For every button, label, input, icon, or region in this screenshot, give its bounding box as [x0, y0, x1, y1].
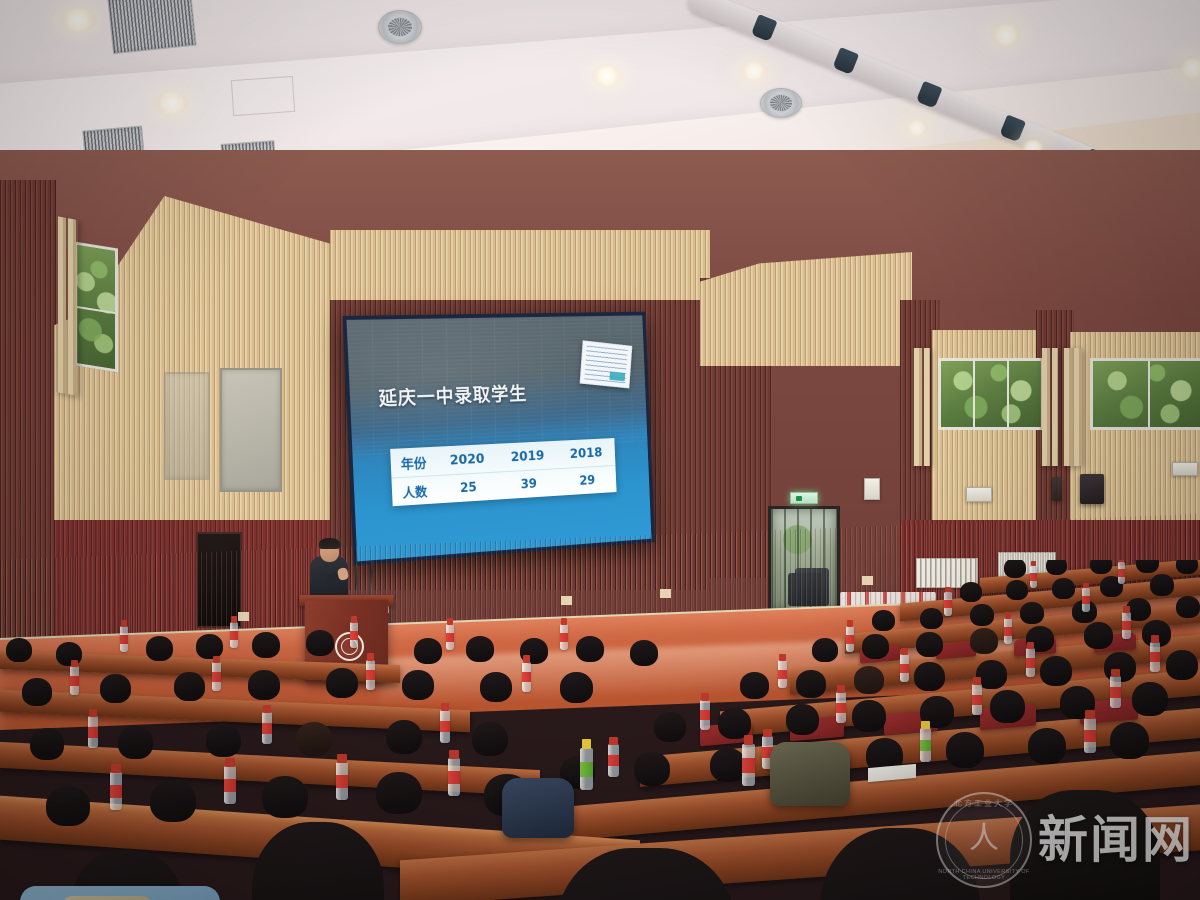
water-bottle: [700, 700, 710, 730]
table-header-count: 人数: [392, 475, 439, 506]
audience-head: [472, 722, 508, 756]
audience-head: [970, 604, 994, 626]
audience-head: [306, 630, 334, 656]
water-bottle: [70, 666, 79, 695]
audience-head: [560, 672, 593, 703]
audience-head: [1176, 596, 1200, 618]
audience-head: [414, 638, 442, 664]
window-mullion: [973, 361, 975, 427]
audience-head: [576, 636, 604, 662]
water-bottle: [1150, 642, 1160, 672]
water-bottle: [446, 624, 454, 650]
water-bottle: [1026, 648, 1035, 677]
water-bottle: [230, 622, 238, 648]
audience-head: [206, 724, 241, 757]
audience-head: [376, 772, 422, 814]
audience-head: [786, 704, 819, 735]
audience-head: [1006, 580, 1028, 600]
audience-head: [1028, 728, 1066, 764]
audience-head: [634, 752, 670, 786]
led-presentation-screen: 延庆一中录取学生 年份 2020 2019 2018 人数 25 39 29: [342, 312, 655, 566]
left-window-curtain: [56, 216, 78, 396]
right-window-1-glass: [941, 361, 1041, 427]
audience-head: [916, 632, 943, 657]
ceiling-air-grille: [107, 0, 196, 54]
right-window-2-curtain: [1062, 348, 1082, 466]
foreground-head: [1010, 790, 1160, 900]
table-cell-year-2019: 2019: [497, 441, 558, 472]
audience-head: [1110, 722, 1149, 759]
audience-head: [1166, 650, 1198, 680]
table-cell-year-2018: 2018: [557, 438, 616, 469]
right-window-2: [1090, 358, 1200, 430]
audience-head: [150, 780, 196, 822]
water-bottle: [560, 624, 568, 650]
water-bottle: [944, 592, 952, 616]
slide-data-table: 年份 2020 2019 2018 人数 25 39 29: [390, 438, 616, 506]
audience-head: [1052, 578, 1075, 599]
audience-head: [46, 786, 90, 826]
water-bottle: [846, 626, 854, 652]
water-bottle: [778, 660, 787, 688]
audience-head: [326, 668, 358, 698]
audience-head: [862, 634, 889, 659]
audience-head: [710, 748, 746, 782]
backpack: [502, 778, 574, 838]
wall-speaker: [1052, 477, 1062, 501]
lecture-hall-photo: 延庆一中录取学生 年份 2020 2019 2018 人数 25 39 29: [0, 0, 1200, 900]
ceiling-round-diffuser: [760, 88, 802, 118]
water-bottle: [366, 660, 375, 690]
audience-head: [1046, 560, 1067, 575]
audience-head: [100, 674, 131, 703]
audience-head: [796, 670, 826, 698]
audience-head: [466, 636, 494, 662]
water-bottle: [900, 654, 909, 682]
water-bottle: [836, 692, 846, 723]
left-window: [74, 242, 118, 373]
audience-head: [146, 636, 173, 661]
backpack-top-pocket: [62, 896, 152, 900]
audience-head: [1040, 656, 1072, 686]
audience-head: [970, 628, 998, 654]
ceiling-downlight: [1178, 58, 1200, 78]
right-window-1-curtain-right: [1040, 348, 1058, 466]
wall-speaker: [1080, 474, 1104, 504]
audience-head: [740, 672, 769, 699]
audience-head: [386, 720, 422, 754]
audience-head: [1084, 622, 1113, 649]
backpack: [770, 742, 850, 806]
table-cell-year-2020: 2020: [436, 443, 499, 475]
right-window-1-curtain-left: [912, 348, 930, 466]
audience-head: [6, 638, 32, 662]
water-bottle: [336, 762, 348, 800]
window-mullion: [1148, 361, 1150, 427]
water-bottle: [88, 716, 98, 748]
water-bottle: [972, 684, 982, 715]
audience-head: [56, 642, 82, 666]
audience-head: [812, 638, 838, 662]
water-bottle: [1122, 612, 1131, 639]
slide-canvas: 延庆一中录取学生 年份 2020 2019 2018 人数 25 39 29: [347, 315, 652, 561]
audience-head: [1132, 682, 1168, 716]
water-bottle: [120, 626, 128, 652]
audience-head: [22, 678, 52, 706]
audience-head: [252, 632, 280, 658]
audience-head: [480, 672, 512, 702]
water-bottle: [1084, 718, 1096, 753]
water-bottle: [212, 662, 221, 691]
audience-head: [960, 582, 982, 602]
water-bottle: [742, 744, 755, 786]
audience-head: [262, 776, 308, 818]
window-mullion: [1007, 361, 1009, 427]
water-bottle: [1082, 588, 1090, 612]
wall-plaque: [966, 487, 992, 502]
water-bottle: [608, 744, 619, 777]
audience-head: [118, 726, 153, 759]
ceiling-downlight: [60, 8, 96, 32]
ceiling-downlight: [740, 62, 768, 80]
table-cell-count-2018: 29: [558, 465, 617, 495]
water-bottle: [224, 766, 236, 804]
audience-head: [1020, 602, 1044, 624]
right-window-1: [938, 358, 1044, 430]
water-bottle: [110, 772, 122, 810]
audience-head: [1176, 560, 1198, 574]
water-bottle: [1004, 618, 1012, 644]
ceiling-downlight: [592, 66, 622, 86]
ceiling-downlight: [155, 92, 189, 114]
water-bottle: [1110, 676, 1121, 708]
water-bottle: [522, 662, 531, 692]
table-cell-count-2020: 25: [437, 472, 500, 503]
audience-head: [1150, 574, 1174, 596]
wall-notice: [864, 478, 880, 500]
presenter-hair: [319, 538, 340, 549]
audience-head: [852, 700, 886, 732]
audience-head: [990, 690, 1025, 723]
ceiling-round-diffuser: [378, 10, 422, 44]
audience-head: [174, 672, 205, 701]
left-acoustic-panel: [220, 368, 282, 492]
audience-head: [872, 610, 895, 631]
water-bottle: [350, 622, 358, 648]
exit-sign: [790, 492, 818, 504]
table-cell-count-2019: 39: [498, 468, 559, 499]
audience-head: [854, 666, 884, 694]
audience-head: [296, 722, 332, 756]
ceiling-downlight: [905, 120, 929, 136]
right-window-2-glass: [1093, 361, 1200, 427]
ceiling-access-hatch: [231, 76, 295, 116]
wall-plaque: [1172, 462, 1198, 476]
table-header-year: 年份: [390, 446, 437, 477]
audience-head: [920, 608, 943, 629]
audience-head: [402, 670, 434, 700]
audience-head: [30, 728, 64, 760]
audience-head: [946, 732, 984, 768]
audience-head: [1004, 560, 1026, 578]
audience-head: [630, 640, 658, 666]
audience-head: [1090, 560, 1112, 574]
water-bottle: [440, 710, 450, 743]
audience-head: [654, 712, 686, 742]
water-bottle: [1030, 566, 1037, 588]
audience-head: [248, 670, 280, 700]
water-bottle: [1118, 562, 1125, 584]
audience-head: [914, 662, 945, 691]
water-bottle: [920, 728, 931, 762]
audience-seating-area: [0, 560, 1200, 900]
ceiling-downlight: [990, 24, 1022, 46]
water-bottle-sprite: [580, 748, 593, 790]
left-acoustic-panel: [164, 372, 210, 480]
water-bottle: [262, 712, 272, 744]
slide-document-photo: [579, 340, 632, 388]
water-bottle: [448, 758, 460, 796]
